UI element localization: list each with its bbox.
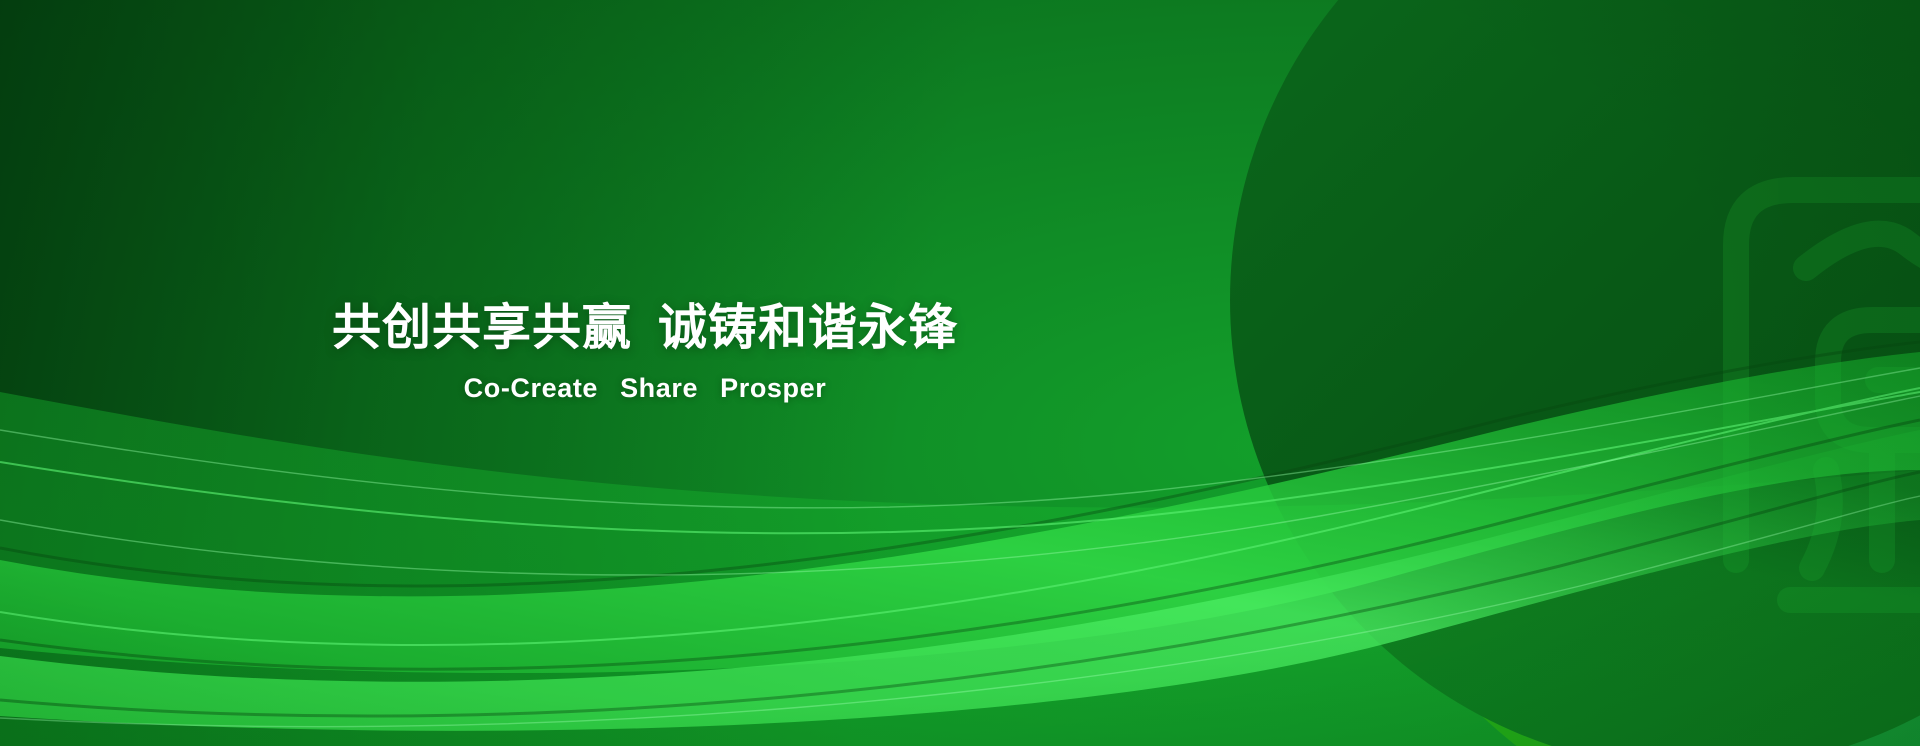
subtitle-word-3: Prosper <box>720 373 826 403</box>
slogan-block: 共创共享共赢诚铸和谐永锋 Co-CreateShareProsper <box>0 300 1290 404</box>
headline-part-1: 共创共享共赢 <box>332 301 632 355</box>
subtitle-word-2: Share <box>620 373 698 403</box>
banner-hero: 共创共享共赢诚铸和谐永锋 Co-CreateShareProsper <box>0 0 1920 746</box>
headline-part-2: 诚铸和谐永锋 <box>658 301 958 355</box>
subtitle-word-1: Co-Create <box>464 373 598 403</box>
subtitle: Co-CreateShareProsper <box>0 372 1290 404</box>
page-title: 共创共享共赢诚铸和谐永锋 <box>0 300 1290 358</box>
